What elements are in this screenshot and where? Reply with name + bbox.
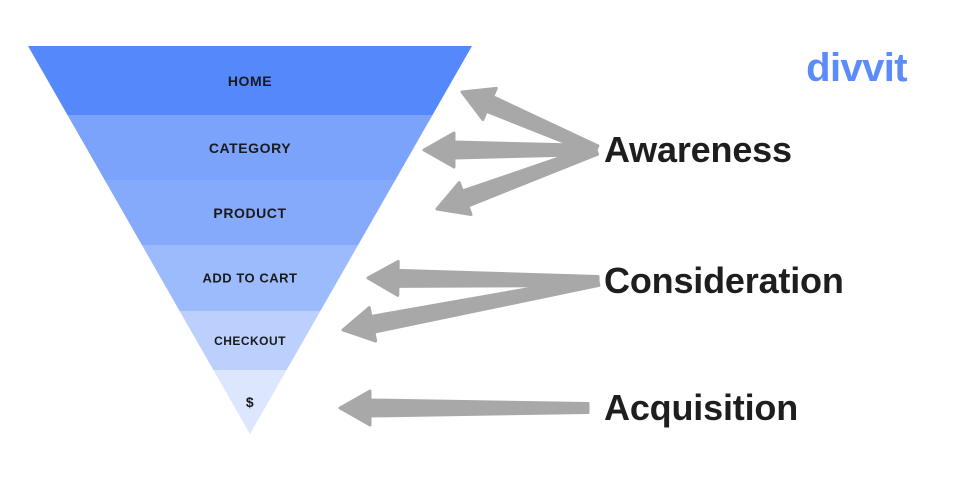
funnel-label-checkout: CHECKOUT [214, 334, 286, 348]
arrow-acquisition-6 [340, 391, 588, 425]
funnel-label-add-to-cart: ADD TO CART [202, 271, 297, 286]
funnel-label-product: PRODUCT [213, 205, 286, 221]
funnel-label-category: CATEGORY [209, 140, 291, 156]
divvit-logo: divvit [806, 48, 907, 88]
funnel-label-home: HOME [228, 73, 272, 89]
stage-label-awareness: Awareness [604, 129, 792, 171]
stage-label-consideration: Consideration [604, 260, 844, 302]
funnel-diagram: HOMECATEGORYPRODUCTADD TO CARTCHECKOUT$ … [0, 0, 975, 488]
funnel-label-: $ [246, 394, 254, 410]
stage-label-acquisition: Acquisition [604, 387, 798, 429]
